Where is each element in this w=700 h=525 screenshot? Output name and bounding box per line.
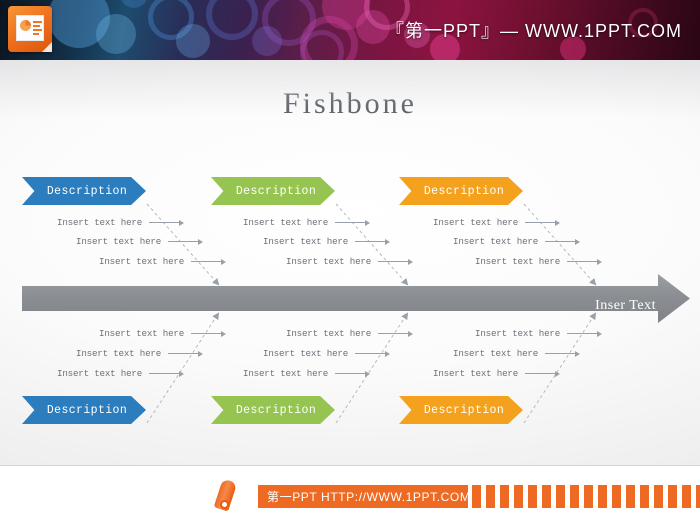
row-bottom-left-2[interactable]: Insert text here: [76, 348, 203, 359]
row-top-right-1[interactable]: Insert text here: [433, 217, 560, 228]
banner-label: Description: [424, 404, 504, 417]
banner-bottom-right[interactable]: Description: [399, 396, 523, 424]
row-arrow-head-icon: [385, 239, 390, 245]
row-arrow-line: [149, 373, 179, 374]
banner-label: Description: [424, 185, 504, 198]
spine-label: Inser Text: [595, 298, 656, 314]
row-text: Insert text here: [475, 328, 560, 339]
logo-pie-icon: [20, 20, 31, 31]
row-arrow-head-icon: [408, 331, 413, 337]
row-arrow-head-icon: [198, 351, 203, 357]
header-banner: 『第一PPT』— WWW.1PPT.COM: [0, 0, 700, 60]
row-top-left-3[interactable]: Insert text here: [99, 256, 226, 267]
row-arrow-line: [378, 333, 408, 334]
row-arrow-line: [335, 222, 365, 223]
row-arrow-line: [191, 261, 221, 262]
row-top-left-1[interactable]: Insert text here: [57, 217, 184, 228]
row-text: Insert text here: [453, 236, 538, 247]
row-text: Insert text here: [57, 368, 142, 379]
row-bottom-left-1[interactable]: Insert text here: [99, 328, 226, 339]
row-arrow-line: [335, 373, 365, 374]
banner-label: Description: [236, 185, 316, 198]
row-text: Insert text here: [475, 256, 560, 267]
row-arrow-head-icon: [597, 259, 602, 265]
row-arrow-head-icon: [198, 239, 203, 245]
row-text: Insert text here: [433, 217, 518, 228]
row-text: Insert text here: [263, 348, 348, 359]
footer-url-bar[interactable]: 第一PPT HTTP://WWW.1PPT.COM: [258, 485, 468, 508]
bokeh-decoration: [206, 0, 258, 40]
row-arrow-line: [355, 241, 385, 242]
row-arrow-head-icon: [221, 259, 226, 265]
row-arrow-head-icon: [555, 220, 560, 226]
row-arrow-head-icon: [179, 371, 184, 377]
footer-banner: 第一PPT HTTP://WWW.1PPT.COM: [0, 465, 700, 525]
pen-icon: [216, 480, 242, 512]
row-arrow-line: [168, 241, 198, 242]
row-top-right-3[interactable]: Insert text here: [475, 256, 602, 267]
row-arrow-head-icon: [597, 331, 602, 337]
row-arrow-head-icon: [365, 220, 370, 226]
row-arrow-head-icon: [575, 239, 580, 245]
banner-bottom-middle[interactable]: Description: [211, 396, 335, 424]
logo-document-icon: [16, 15, 44, 41]
row-top-middle-2[interactable]: Insert text here: [263, 236, 390, 247]
banner-top-middle[interactable]: Description: [211, 177, 335, 205]
row-bottom-right-2[interactable]: Insert text here: [453, 348, 580, 359]
row-bottom-middle-2[interactable]: Insert text here: [263, 348, 390, 359]
row-bottom-right-1[interactable]: Insert text here: [475, 328, 602, 339]
row-arrow-line: [378, 261, 408, 262]
footer-url-text: 第一PPT HTTP://WWW.1PPT.COM: [267, 488, 470, 505]
row-text: Insert text here: [433, 368, 518, 379]
banner-bottom-left[interactable]: Description: [22, 396, 146, 424]
slide-canvas: 『第一PPT』— WWW.1PPT.COM Fishbone: [0, 0, 700, 525]
row-arrow-line: [191, 333, 221, 334]
row-bottom-right-3[interactable]: Insert text here: [433, 368, 560, 379]
bokeh-decoration: [120, 0, 148, 8]
row-arrow-line: [567, 261, 597, 262]
banner-label: Description: [47, 404, 127, 417]
row-top-right-2[interactable]: Insert text here: [453, 236, 580, 247]
row-bottom-left-3[interactable]: Insert text here: [57, 368, 184, 379]
row-top-left-2[interactable]: Insert text here: [76, 236, 203, 247]
row-arrow-line: [545, 353, 575, 354]
banner-top-right[interactable]: Description: [399, 177, 523, 205]
row-arrow-line: [149, 222, 179, 223]
row-top-middle-1[interactable]: Insert text here: [243, 217, 370, 228]
row-text: Insert text here: [99, 328, 184, 339]
row-text: Insert text here: [99, 256, 184, 267]
bokeh-decoration: [96, 14, 136, 54]
row-text: Insert text here: [76, 348, 161, 359]
header-brand-text: 『第一PPT』— WWW.1PPT.COM: [386, 17, 682, 43]
row-bottom-middle-1[interactable]: Insert text here: [286, 328, 413, 339]
row-arrow-head-icon: [385, 351, 390, 357]
row-text: Insert text here: [286, 256, 371, 267]
row-arrow-line: [567, 333, 597, 334]
bokeh-decoration: [176, 24, 210, 58]
powerpoint-logo-icon: [8, 6, 52, 52]
row-bottom-middle-3[interactable]: Insert text here: [243, 368, 370, 379]
footer-stripes-decoration: [472, 485, 700, 508]
spine-arrow: [22, 274, 690, 323]
banner-top-left[interactable]: Description: [22, 177, 146, 205]
row-top-middle-3[interactable]: Insert text here: [286, 256, 413, 267]
row-text: Insert text here: [286, 328, 371, 339]
row-arrow-head-icon: [221, 331, 226, 337]
row-arrow-head-icon: [575, 351, 580, 357]
row-arrow-line: [355, 353, 385, 354]
banner-label: Description: [236, 404, 316, 417]
row-arrow-line: [525, 222, 555, 223]
row-arrow-line: [525, 373, 555, 374]
row-text: Insert text here: [453, 348, 538, 359]
row-arrow-head-icon: [179, 220, 184, 226]
row-text: Insert text here: [57, 217, 142, 228]
row-text: Insert text here: [76, 236, 161, 247]
row-text: Insert text here: [243, 368, 328, 379]
banner-label: Description: [47, 185, 127, 198]
row-text: Insert text here: [243, 217, 328, 228]
row-text: Insert text here: [263, 236, 348, 247]
logo-page-fold: [42, 42, 52, 52]
row-arrow-line: [168, 353, 198, 354]
row-arrow-head-icon: [365, 371, 370, 377]
row-arrow-head-icon: [408, 259, 413, 265]
row-arrow-line: [545, 241, 575, 242]
slide-body: Fishbone Ins: [0, 60, 700, 465]
row-arrow-head-icon: [555, 371, 560, 377]
